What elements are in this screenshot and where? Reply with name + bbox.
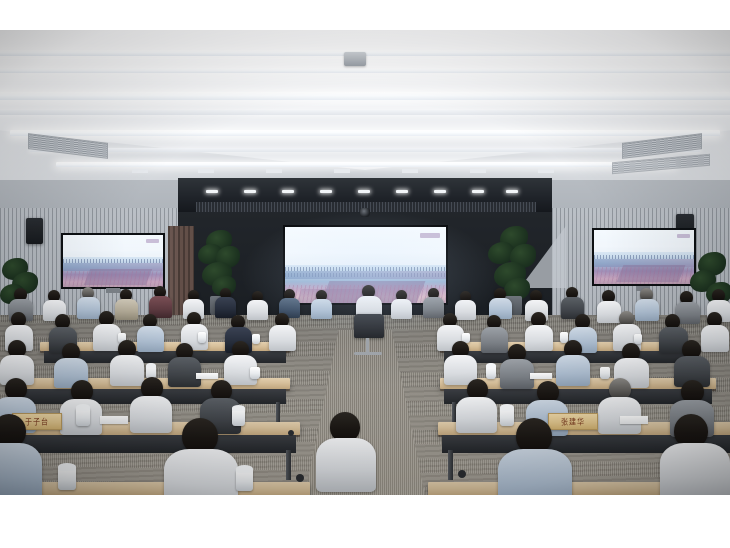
chair-caster <box>288 430 294 436</box>
soffit-downlights <box>200 190 530 194</box>
ceiling-light-strip <box>0 68 730 73</box>
chair-caster <box>296 474 304 482</box>
ceiling-downlight-row <box>120 169 610 174</box>
right-led-display[interactable] <box>594 230 694 284</box>
teacup <box>58 468 76 490</box>
screenshot-root: 于子台 张建华 <box>0 0 730 548</box>
screen-watermark <box>420 233 440 238</box>
audience-row-front <box>0 408 730 495</box>
ceiling-projector-mount <box>344 52 366 66</box>
teacup <box>236 470 253 491</box>
ceiling-light-strip <box>30 148 700 152</box>
wall-speaker-left <box>26 218 43 244</box>
ceiling-light-strip <box>56 162 676 167</box>
conference-room-photo: 于子台 张建华 <box>0 30 730 495</box>
ceiling-light-strip <box>10 130 720 136</box>
ceiling-camera <box>360 208 370 217</box>
chair-caster <box>458 470 466 478</box>
ceiling-light-strip <box>0 92 730 100</box>
ceiling-light-strip <box>0 110 730 115</box>
